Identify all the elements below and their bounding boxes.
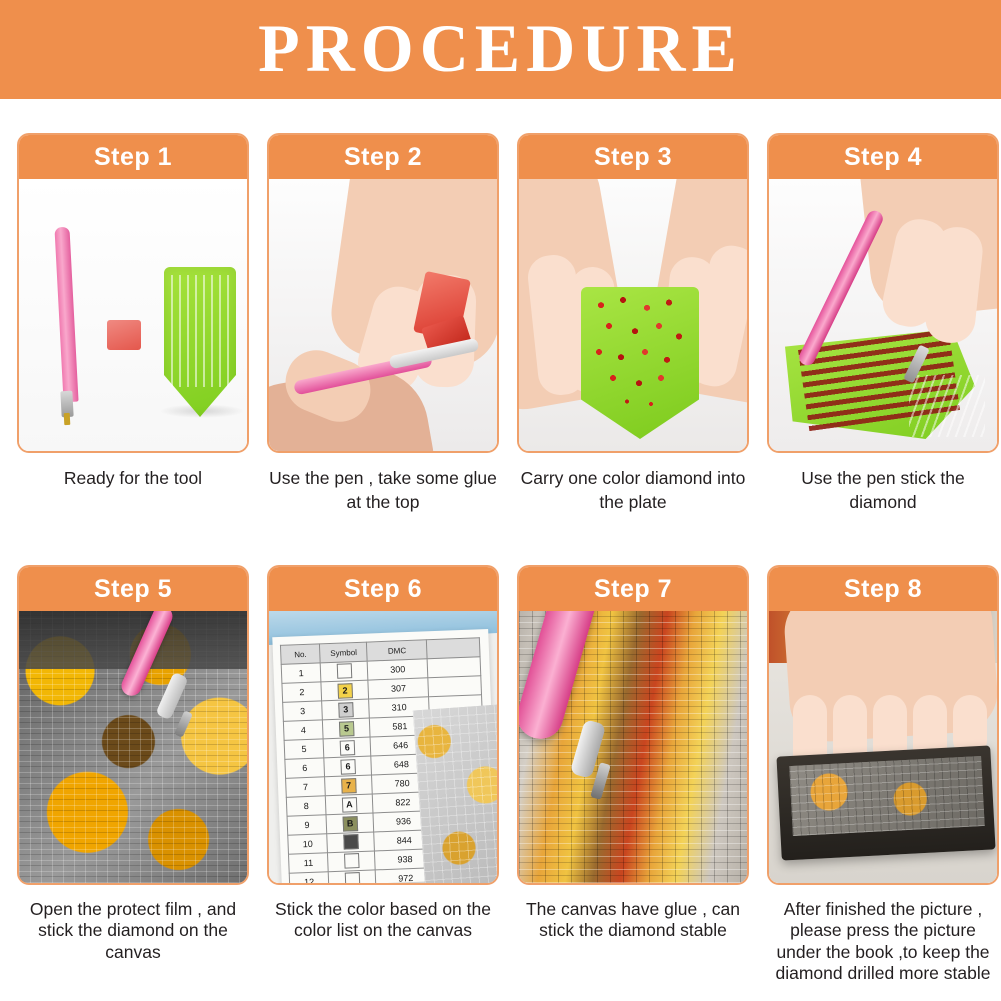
step-6-scene: No. Symbol DMC 1 300 <box>269 611 497 883</box>
step-cell-2: Step 2 <box>267 133 499 514</box>
cell-symbol: 6 <box>324 756 372 777</box>
step-card-8: Step 8 <box>767 565 999 885</box>
step-cell-1: Step 1 Ready fo <box>17 133 249 514</box>
cell-symbol <box>327 832 375 853</box>
step-3-header: Step 3 <box>519 135 747 179</box>
step-card-3: Step 3 <box>517 133 749 453</box>
cell-symbol: A <box>325 794 373 815</box>
step-6-header: Step 6 <box>269 567 497 611</box>
page-title: PROCEDURE <box>258 14 743 86</box>
cell-symbol: B <box>326 813 374 834</box>
step-8-scene <box>769 611 997 883</box>
steps-row-top: Step 1 Ready fo <box>0 133 1001 514</box>
cell-symbol: 2 <box>321 680 369 701</box>
steps-row-bottom: Step 5 Open the protect film , and stick… <box>0 565 1001 984</box>
step-cell-7: Step 7 The canvas have glue , can stick … <box>517 565 749 984</box>
symbol-glyph: 3 <box>338 702 354 718</box>
step-4-header: Step 4 <box>769 135 997 179</box>
col-header-dmc: DMC <box>367 640 427 661</box>
symbol-glyph: A <box>342 797 358 813</box>
symbol-glyph: 2 <box>337 683 353 699</box>
step-2-caption: Use the pen , take some glue at the top <box>267 467 499 514</box>
cell-no: 4 <box>283 720 323 740</box>
step-5-scene <box>19 611 247 883</box>
step-3-scene <box>519 179 747 451</box>
cell-dmc: 300 <box>368 659 428 680</box>
step-8-caption: After finished the picture , please pres… <box>767 899 999 984</box>
step-card-5: Step 5 <box>17 565 249 885</box>
steps-grid: Step 1 Ready fo <box>0 99 1001 1001</box>
step-cell-4: Step 4 <box>767 133 999 514</box>
step-card-7: Step 7 <box>517 565 749 885</box>
symbol-glyph <box>344 853 360 869</box>
step-6-caption: Stick the color based on the color list … <box>267 899 499 942</box>
step-cell-3: Step 3 <box>517 133 749 514</box>
step-4-image <box>769 179 997 451</box>
step-1-scene <box>19 179 247 451</box>
step-6-image: No. Symbol DMC 1 300 <box>269 611 497 883</box>
procedure-infographic: PROCEDURE Step 1 <box>0 0 1001 1001</box>
step-1-caption: Ready for the tool <box>17 467 249 491</box>
symbol-glyph: B <box>342 816 358 832</box>
step-1-image <box>19 179 247 451</box>
cell-symbol <box>328 870 376 883</box>
step-7-caption: The canvas have glue , can stick the dia… <box>517 899 749 942</box>
cell-no: 8 <box>286 796 326 816</box>
symbol-glyph: 5 <box>339 721 355 737</box>
step-3-caption: Carry one color diamond into the plate <box>517 467 749 514</box>
cell-extra <box>427 657 481 678</box>
step-2-header: Step 2 <box>269 135 497 179</box>
cell-no: 5 <box>284 739 324 759</box>
step-cell-5: Step 5 Open the protect film , and stick… <box>17 565 249 984</box>
step-8-header: Step 8 <box>769 567 997 611</box>
tray-grooves <box>909 375 985 437</box>
step-cell-8: Step 8 <box>767 565 999 984</box>
step-card-4: Step 4 <box>767 133 999 453</box>
step-2-image <box>269 179 497 451</box>
step-7-image <box>519 611 747 883</box>
cell-no: 7 <box>286 777 326 797</box>
step-5-image <box>19 611 247 883</box>
cell-dmc: 307 <box>368 678 428 699</box>
cell-symbol <box>320 661 368 682</box>
cell-symbol: 7 <box>325 775 373 796</box>
symbol-glyph <box>345 872 361 883</box>
step-card-1: Step 1 <box>17 133 249 453</box>
step-4-scene <box>769 179 997 451</box>
cell-no: 3 <box>283 701 323 721</box>
partly-finished-canvas <box>413 704 497 883</box>
cell-no: 1 <box>281 663 321 683</box>
symbol-glyph: 7 <box>341 778 357 794</box>
step-5-caption: Open the protect film , and stick the di… <box>17 899 249 963</box>
cell-symbol: 5 <box>323 718 371 739</box>
col-header-symbol: Symbol <box>320 642 368 663</box>
glue-wax-square <box>107 320 141 350</box>
step-2-scene <box>269 179 497 451</box>
cell-symbol: 6 <box>323 737 371 758</box>
symbol-glyph: 6 <box>339 740 355 756</box>
col-header-no: No. <box>280 644 320 664</box>
pen-nib <box>64 413 71 425</box>
symbol-glyph <box>343 834 359 850</box>
tray-grooves <box>171 275 229 387</box>
symbol-glyph <box>337 663 353 679</box>
cell-no: 12 <box>289 872 329 883</box>
symbol-glyph: 6 <box>340 759 356 775</box>
step-3-image <box>519 179 747 451</box>
cell-symbol: 3 <box>322 699 370 720</box>
col-header-extra <box>426 638 480 659</box>
step-7-header: Step 7 <box>519 567 747 611</box>
cell-no: 2 <box>282 682 322 702</box>
step-1-header: Step 1 <box>19 135 247 179</box>
cell-no: 11 <box>288 853 328 873</box>
cell-no: 6 <box>285 758 325 778</box>
step-5-header: Step 5 <box>19 567 247 611</box>
step-card-2: Step 2 <box>267 133 499 453</box>
cell-symbol <box>328 851 376 872</box>
step-8-image <box>769 611 997 883</box>
cell-no: 9 <box>287 815 327 835</box>
red-diamond-drills <box>589 287 689 417</box>
step-card-6: Step 6 No. Symbol DM <box>267 565 499 885</box>
cell-extra <box>428 676 482 697</box>
cell-no: 10 <box>288 834 328 854</box>
step-7-scene <box>519 611 747 883</box>
finished-painting <box>789 756 984 836</box>
page-header-banner: PROCEDURE <box>0 0 1001 99</box>
step-cell-6: Step 6 No. Symbol DM <box>267 565 499 984</box>
step-4-caption: Use the pen stick the diamond <box>767 467 999 514</box>
